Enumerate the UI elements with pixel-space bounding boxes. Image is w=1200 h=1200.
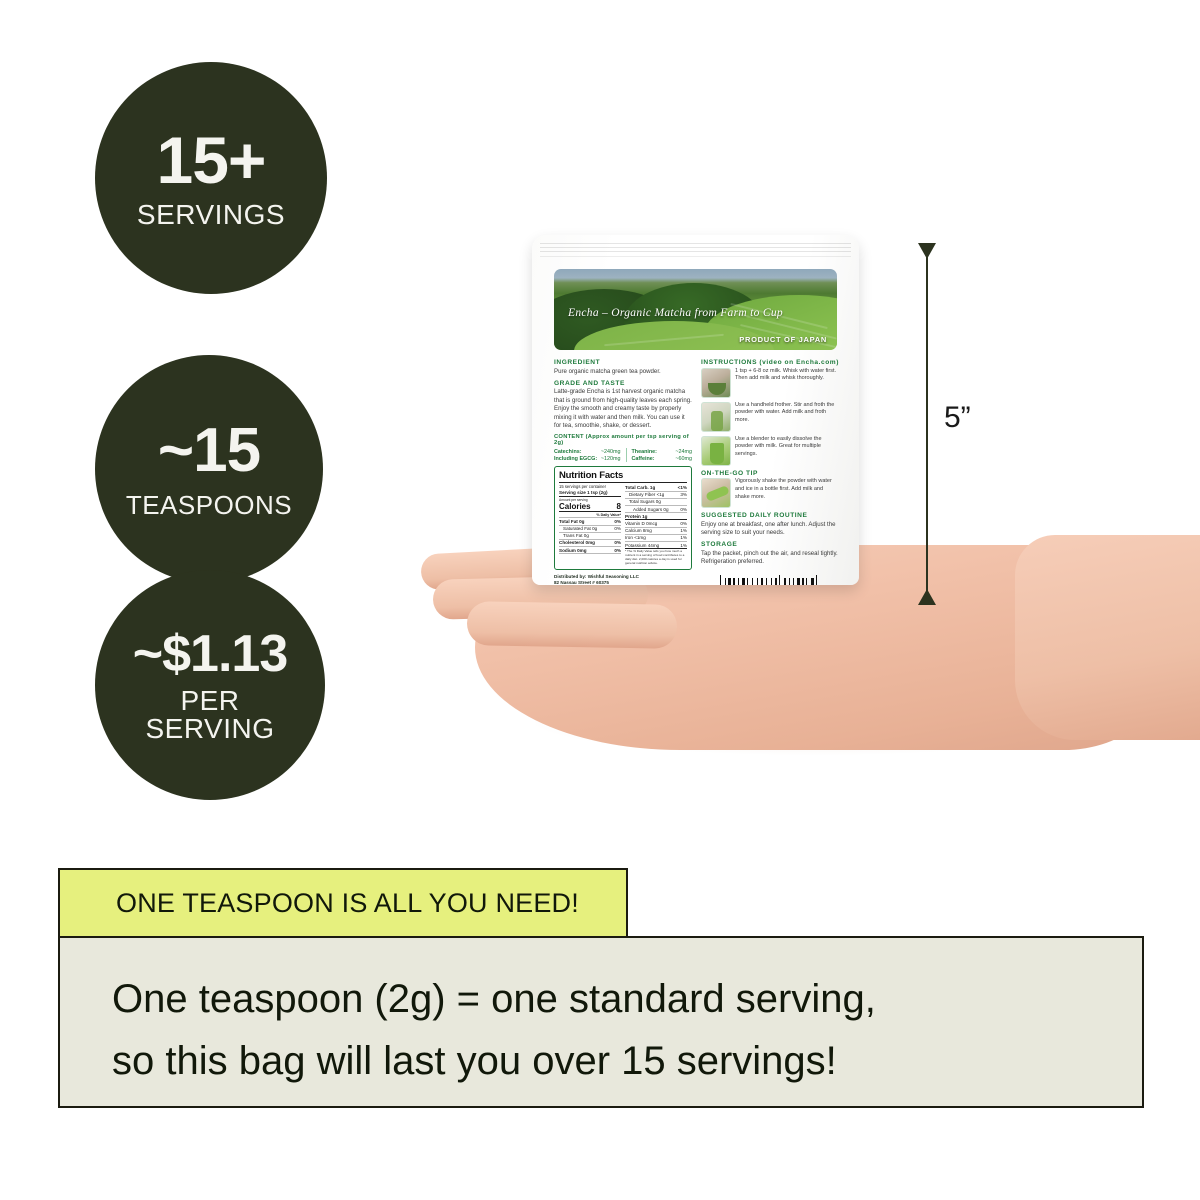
content-value: ~24mg [675, 449, 692, 455]
nutrient-label: Sodium 0mg [559, 548, 587, 553]
content-value: ~240mg [601, 449, 621, 455]
nutrient-row: Calcium 8mg 1% [625, 528, 687, 535]
content-item: Catechins: ~240mg [554, 448, 621, 455]
distributor-line-2: 82 Nassau Street # 60375 [554, 580, 692, 585]
ingredient-heading: INGREDIENT [554, 359, 692, 366]
daily-value-header-text: % Daily Value* [596, 513, 621, 517]
whisk-bowl-icon [701, 368, 731, 398]
badge-servings-label: SERVINGS [137, 201, 285, 229]
callout-banner-text: ONE TEASPOON IS ALL YOU NEED! [116, 888, 579, 919]
calories-value: 8 [617, 502, 621, 511]
nutrient-label: Potassium 44mg [625, 543, 659, 548]
message-line-1: One teaspoon (2g) = one standard serving… [112, 968, 1142, 1030]
badge-price-value: ~$1.13 [133, 628, 288, 680]
instruction-item: Use a handheld frother. Stir and froth t… [701, 402, 839, 432]
nutrient-value: 1% [680, 535, 687, 540]
instruction-item: Use a blender to easily dissolve the pow… [701, 436, 839, 466]
nutrient-label: Protein 1g [625, 514, 647, 519]
package-tagline: Encha – Organic Matcha from Farm to Cup [568, 307, 783, 319]
nutrient-value: 1% [680, 528, 687, 533]
arrow-down-icon [918, 589, 936, 605]
barcode-icon [720, 575, 820, 585]
badge-servings-value: 15+ [157, 127, 266, 193]
label-left-column: INGREDIENT Pure organic matcha green tea… [554, 359, 692, 574]
nutrient-value: 0% [680, 521, 687, 526]
routine-text: Enjoy one at breakfast, one after lunch.… [701, 521, 839, 538]
grade-text: Latte-grade Encha is 1st harvest organic… [554, 388, 692, 430]
label-right-column: INSTRUCTIONS (video on Encha.com) 1 tsp … [701, 359, 839, 574]
nutrient-row: Total Sugars 0g [625, 499, 687, 506]
message-line-2: so this bag will last you over 15 servin… [112, 1030, 1142, 1092]
nutrient-row: Dietary Fiber <1g 3% [625, 492, 687, 499]
nutrient-value: 0% [614, 519, 621, 524]
finger-ring [467, 601, 678, 649]
nutrient-row: Vitamin D 0mcg 0% [625, 520, 687, 527]
nutrient-label: Calcium 8mg [625, 528, 652, 533]
nutrition-left-column: 15 servings per container Serving size 1… [559, 484, 621, 565]
content-value: ~120mg [601, 456, 621, 462]
nutrient-label: Trans Fat 0g [563, 533, 589, 538]
height-dimension-annotation: 5” [918, 243, 1008, 605]
content-item: Including EGCG: ~120mg [554, 455, 621, 462]
matcha-package: Encha – Organic Matcha from Farm to Cup … [532, 235, 859, 585]
nutrient-value: 0% [614, 526, 621, 531]
package-hero-photo: Encha – Organic Matcha from Farm to Cup … [554, 269, 837, 350]
nutrient-value: 3% [680, 492, 687, 497]
nutrient-label: Total Fat 0g [559, 519, 584, 524]
nutrient-label: Iron <1mg [625, 535, 646, 540]
barcode-block: 8 10069 95252 9 [701, 575, 839, 585]
badge-price-label-line1: PER [180, 687, 239, 715]
hand-wrist [1015, 535, 1200, 740]
onthego-heading: ON-THE-GO TIP [701, 470, 839, 477]
package-zip-seal-line [540, 256, 851, 257]
content-value: ~60mg [675, 456, 692, 462]
calories-label: Calories [559, 502, 591, 511]
nutrition-columns: 15 servings per container Serving size 1… [559, 484, 687, 565]
badge-price-per-serving: ~$1.13 PER SERVING [95, 570, 325, 800]
distributor-line-1: Distributed by: Wishful Seasoning LLC [554, 574, 692, 581]
nutrient-label: Total Sugars 0g [629, 499, 661, 504]
nutrient-value: <1% [678, 485, 687, 490]
content-key: Caffeine: [632, 456, 655, 462]
nutrient-value: 0% [680, 507, 687, 512]
nutrition-footnote: * The % Daily Value tells you how much a… [625, 550, 687, 565]
nutrient-label: Cholesterol 0mg [559, 540, 595, 545]
bottle-shake-icon [701, 478, 731, 508]
ingredient-text: Pure organic matcha green tea powder. [554, 368, 692, 376]
nutrient-row: Added Sugars 0g 0% [625, 506, 687, 513]
nutrient-label: Dietary Fiber <1g [629, 492, 664, 497]
callout-banner: ONE TEASPOON IS ALL YOU NEED! [58, 868, 628, 938]
nutrient-row: Potassium 44mg 1% [625, 542, 687, 549]
blender-icon [701, 436, 731, 466]
nutrient-row: Trans Fat 0g [559, 533, 621, 540]
instructions-heading: INSTRUCTIONS (video on Encha.com) [701, 359, 839, 366]
instruction-text: Use a blender to easily dissolve the pow… [735, 436, 839, 459]
instruction-item: 1 tsp + 6-8 oz milk. Whisk with water fi… [701, 368, 839, 398]
serving-size-label: Serving size 1 tsp (2g) [559, 490, 608, 495]
badge-servings: 15+ SERVINGS [95, 62, 327, 294]
badge-teaspoons-label: TEASPOONS [126, 492, 292, 518]
storage-heading: STORAGE [701, 541, 839, 548]
calories-row: Calories 8 [559, 502, 621, 513]
content-key: Catechins: [554, 449, 582, 455]
onthego-text: Vigorously shake the powder with water a… [735, 478, 839, 501]
dimension-label: 5” [944, 401, 971, 435]
distributor-block: Distributed by: Wishful Seasoning LLC 82… [554, 574, 692, 585]
nutrient-label: Added Sugars 0g [633, 507, 669, 512]
nutrient-row: Sodium 0mg 0% [559, 547, 621, 554]
nutrient-row: Cholesterol 0mg 0% [559, 540, 621, 547]
badge-price-label-line2: SERVING [145, 715, 274, 743]
instruction-text: Use a handheld frother. Stir and froth t… [735, 402, 839, 425]
package-label-body: INGREDIENT Pure organic matcha green tea… [554, 359, 839, 574]
content-key: Theanine: [632, 449, 657, 455]
message-box: One teaspoon (2g) = one standard serving… [58, 936, 1144, 1108]
badge-teaspoons-value: ~15 [158, 420, 260, 482]
product-photo: Encha – Organic Matcha from Farm to Cup … [380, 200, 1180, 820]
grade-heading: GRADE AND TASTE [554, 380, 692, 387]
badge-teaspoons: ~15 TEASPOONS [95, 355, 323, 583]
nutrient-value: 1% [680, 543, 687, 548]
frother-icon [701, 402, 731, 432]
nutrient-row: Total Fat 0g 0% [559, 518, 621, 525]
content-item: Theanine: ~24mg [626, 448, 693, 455]
nutrient-label: Vitamin D 0mcg [625, 521, 657, 526]
serving-size-row: Serving size 1 tsp (2g) [559, 489, 621, 496]
content-key: Including EGCG: [554, 456, 597, 462]
nutrient-row: Saturated Fat 0g 0% [559, 526, 621, 533]
content-grid: Catechins: ~240mg Theanine: ~24mg Includ… [554, 448, 692, 462]
product-of-japan-label: PRODUCT OF JAPAN [739, 335, 827, 344]
nutrient-label: Saturated Fat 0g [563, 526, 597, 531]
nutrient-value: 0% [614, 540, 621, 545]
content-heading: CONTENT (Approx amount per tsp serving o… [554, 434, 692, 446]
nutrient-label: Total Carb. 1g [625, 485, 655, 490]
instruction-text: 1 tsp + 6-8 oz milk. Whisk with water fi… [735, 368, 839, 384]
onthego-item: Vigorously shake the powder with water a… [701, 478, 839, 508]
nutrient-value: 0% [614, 548, 621, 553]
package-zip-seal-line [540, 247, 851, 248]
storage-text: Tap the packet, pinch out the air, and r… [701, 550, 839, 567]
nutrient-row: Protein 1g [625, 513, 687, 520]
nutrient-row: Iron <1mg 1% [625, 535, 687, 542]
nutrition-facts-panel: Nutrition Facts 15 servings per containe… [554, 466, 692, 569]
package-zip-seal-line [540, 243, 851, 244]
nutrition-right-column: Total Carb. 1g <1% Dietary Fiber <1g 3% … [625, 484, 687, 565]
nutrition-facts-title: Nutrition Facts [559, 470, 687, 483]
content-item: Caffeine: ~60mg [626, 455, 693, 462]
package-zip-seal-line [540, 251, 851, 252]
nutrient-row: Total Carb. 1g <1% [625, 484, 687, 491]
dimension-line [926, 253, 928, 595]
routine-heading: SUGGESTED DAILY ROUTINE [701, 512, 839, 519]
